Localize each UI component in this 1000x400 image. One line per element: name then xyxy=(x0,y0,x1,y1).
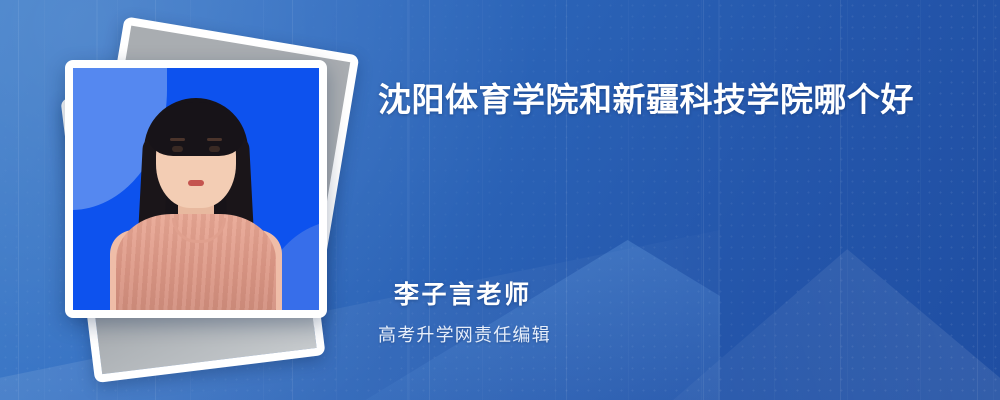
author-portrait xyxy=(103,92,289,310)
eye-right xyxy=(209,146,220,152)
photo-card-stack xyxy=(55,28,355,368)
author-name: 李子言老师 xyxy=(394,275,532,311)
eyebrow-right xyxy=(207,138,222,141)
mouth xyxy=(188,180,204,186)
portrait-photo-card xyxy=(65,60,327,318)
author-role: 高考升学网责任编辑 xyxy=(378,321,551,347)
article-header-banner: 沈阳体育学院和新疆科技学院哪个好 李子言老师 高考升学网责任编辑 xyxy=(0,0,1000,400)
eye-left xyxy=(172,146,183,152)
page-title: 沈阳体育学院和新疆科技学院哪个好 xyxy=(378,72,950,128)
eyebrow-left xyxy=(170,138,185,141)
banner-text-column: 沈阳体育学院和新疆科技学院哪个好 李子言老师 高考升学网责任编辑 xyxy=(378,0,978,400)
